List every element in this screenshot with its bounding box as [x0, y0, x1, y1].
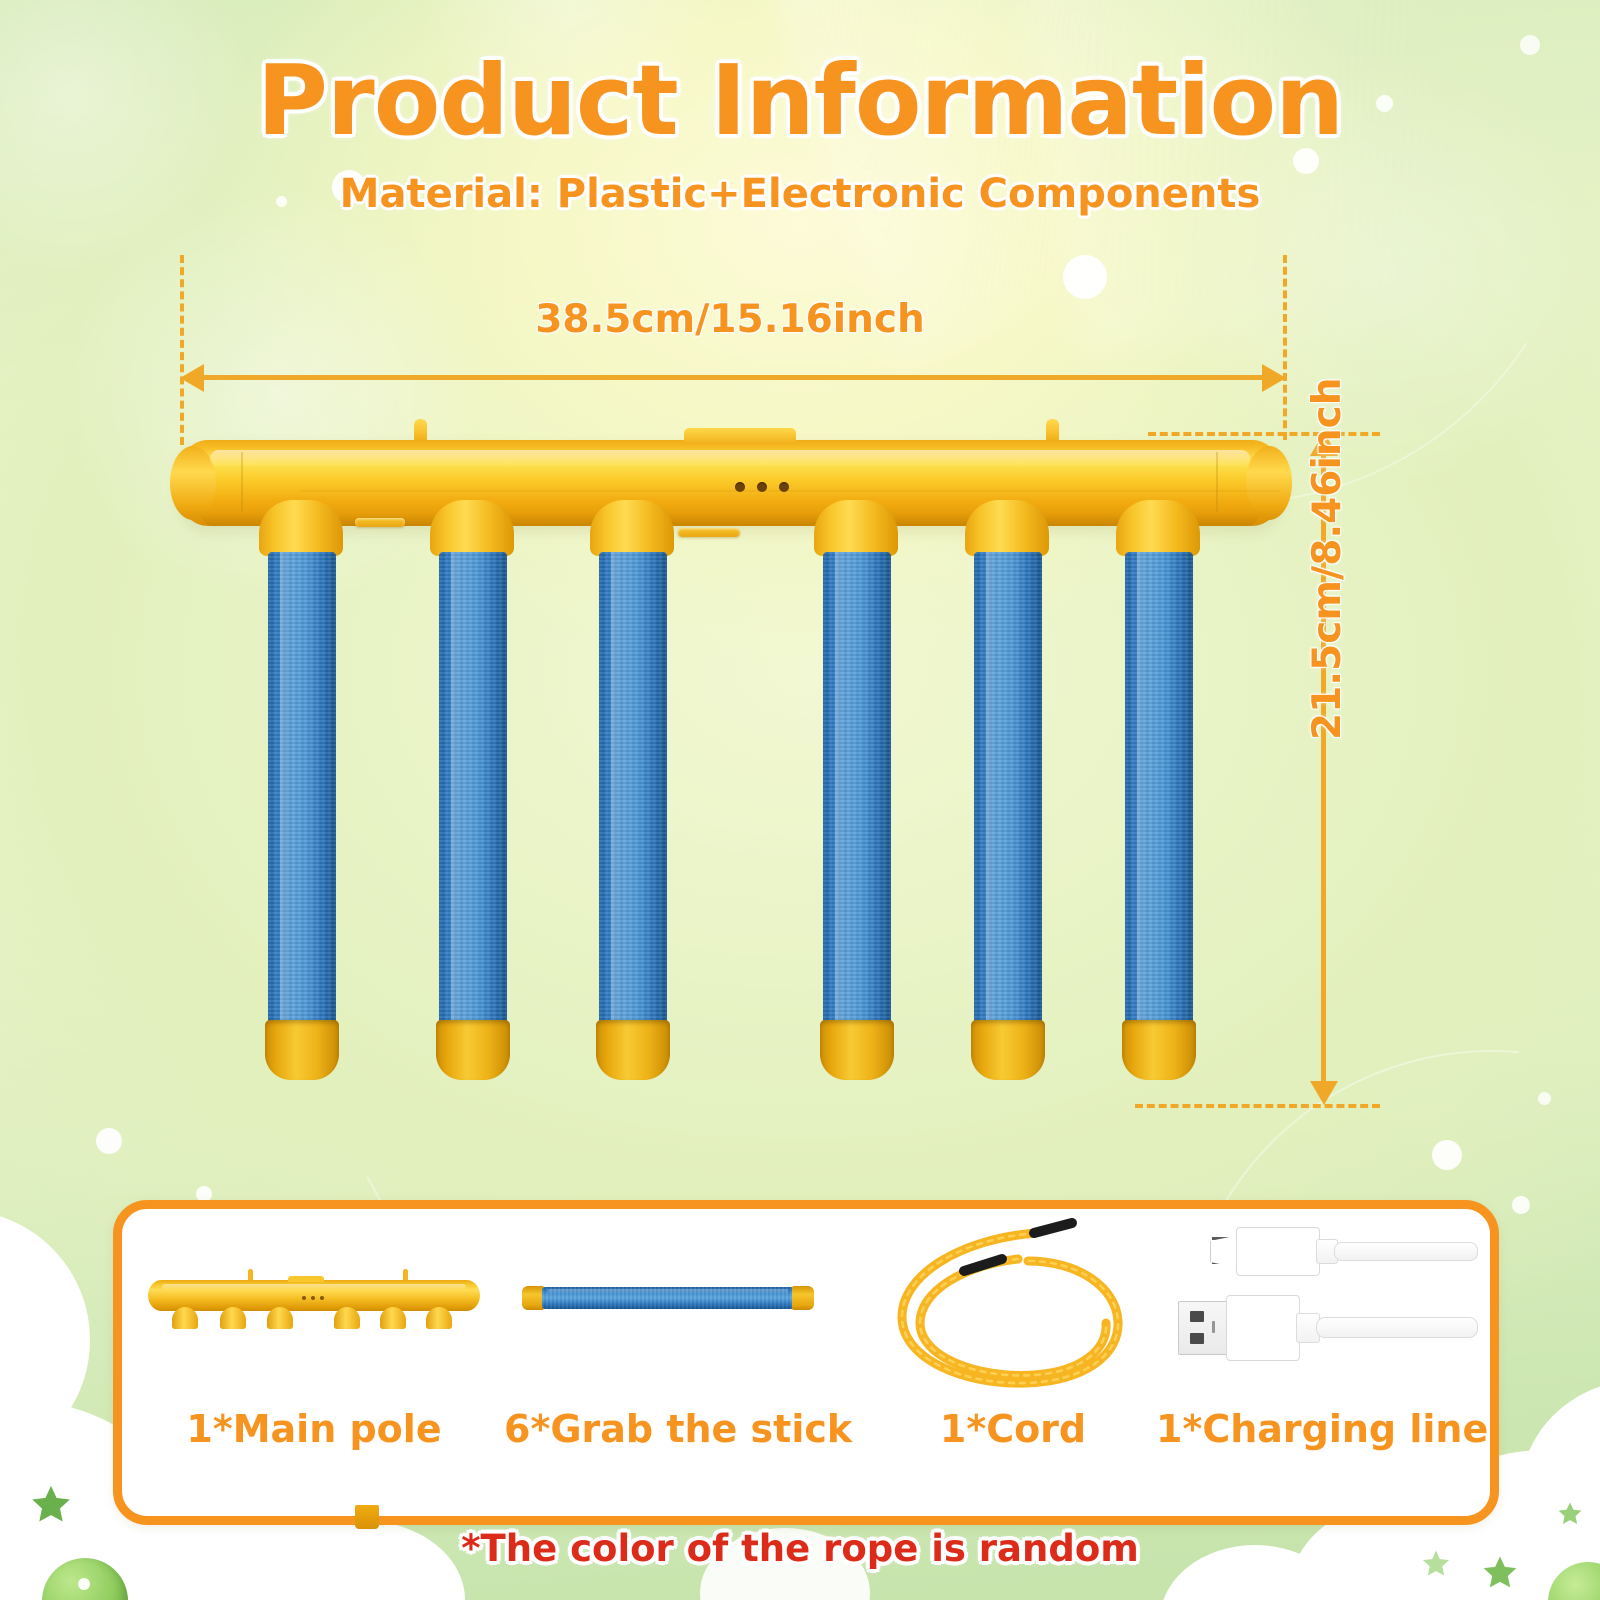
grab-stick-icon [504, 1209, 852, 1409]
bar-highlight [210, 450, 1250, 467]
speaker-hole [779, 482, 789, 492]
accessory-label: 1*Cord [868, 1407, 1158, 1451]
stick-foam [1125, 552, 1193, 1024]
grab-stick [599, 552, 667, 1060]
stick-socket [259, 500, 343, 556]
charging-line-icon [1156, 1209, 1472, 1409]
bar-seam [241, 452, 243, 512]
charging-port [678, 528, 740, 537]
mini-pole-center-panel [288, 1276, 324, 1282]
stick-foam [823, 552, 891, 1024]
stick-socket [1116, 500, 1200, 556]
mini-stick-highlight [548, 1289, 788, 1294]
stick-foam [599, 552, 667, 1024]
bar-end-right [1246, 446, 1292, 520]
accessory-label: 1*Main pole [140, 1407, 488, 1451]
grab-stick [823, 552, 891, 1060]
accessory-item-main-pole: 1*Main pole [140, 1209, 488, 1516]
accessories-panel: 1*Main pole 6*Grab the stick [113, 1200, 1499, 1525]
stick-tip [596, 1020, 670, 1080]
stick-foam [974, 552, 1042, 1024]
panel-clip [355, 1505, 379, 1529]
stick-tip [265, 1020, 339, 1080]
stick-tip [1122, 1020, 1196, 1080]
usb-a-metal [1178, 1301, 1230, 1355]
usb-a-body [1226, 1295, 1300, 1361]
power-switch [355, 518, 405, 527]
usb-a-contact [1212, 1321, 1215, 1333]
mini-socket [220, 1307, 246, 1329]
stick-socket [430, 500, 514, 556]
mini-socket [172, 1307, 198, 1329]
footer-note: *The color of the rope is random [0, 1527, 1600, 1570]
accessory-label: 6*Grab the stick [504, 1407, 852, 1451]
speaker-hole [735, 482, 745, 492]
bar-nub [414, 419, 427, 441]
main-pole-icon [140, 1209, 488, 1409]
mini-hole [311, 1296, 315, 1300]
mini-socket [267, 1307, 293, 1329]
stick-foam [268, 552, 336, 1024]
cord-icon [868, 1209, 1158, 1409]
bar-center-panel [684, 428, 796, 444]
stick-tip [971, 1020, 1045, 1080]
grab-stick [268, 552, 336, 1060]
usb-cable-wire [1334, 1242, 1478, 1261]
mini-stick-cap [522, 1286, 544, 1310]
stick-socket [590, 500, 674, 556]
stick-socket [965, 500, 1049, 556]
bar-nub [1046, 419, 1059, 441]
accessory-item-grab-stick: 6*Grab the stick [504, 1209, 852, 1516]
usb-micro-body [1236, 1227, 1320, 1276]
mini-socket [380, 1307, 406, 1329]
mini-hole [320, 1296, 324, 1300]
bar-seam [300, 490, 1280, 492]
speaker-hole [757, 482, 767, 492]
grab-stick [439, 552, 507, 1060]
mini-hole [302, 1296, 306, 1300]
usb-a-contact [1190, 1333, 1204, 1344]
mini-pole-highlight [162, 1284, 466, 1290]
mini-stick-cap [792, 1286, 814, 1310]
mini-socket [426, 1307, 452, 1329]
grab-stick [974, 552, 1042, 1060]
accessory-label: 1*Charging line [1156, 1407, 1472, 1451]
bar-seam [1216, 452, 1218, 512]
accessory-item-cord: 1*Cord [868, 1209, 1158, 1516]
usb-a-contact [1190, 1311, 1204, 1322]
mini-socket [334, 1307, 360, 1329]
usb-cable-wire [1316, 1317, 1478, 1338]
accessory-item-charging-line: 1*Charging line [1156, 1209, 1472, 1516]
grab-stick [1125, 552, 1193, 1060]
stick-socket [814, 500, 898, 556]
stick-tip [820, 1020, 894, 1080]
stick-tip [436, 1020, 510, 1080]
product-image [0, 0, 1600, 1200]
stick-foam [439, 552, 507, 1024]
